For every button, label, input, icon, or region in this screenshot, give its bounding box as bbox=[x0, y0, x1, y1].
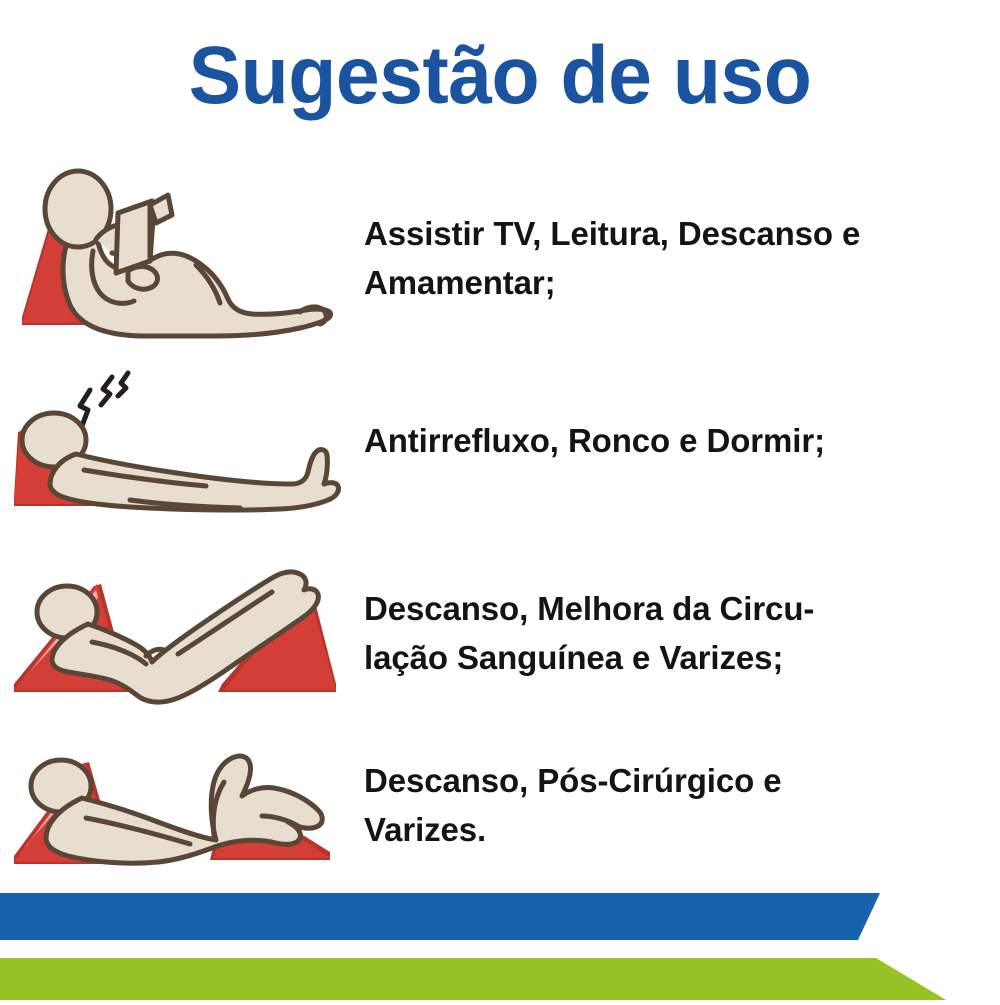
caption-line: Antirrefluxo, Ronco e Dormir; bbox=[364, 416, 990, 465]
caption-line: lação Sanguínea e Varizes; bbox=[364, 633, 990, 682]
green-bar bbox=[0, 958, 946, 1000]
person-figure-icon bbox=[45, 171, 331, 336]
caption-line: Descanso, Melhora da Circu- bbox=[364, 584, 990, 633]
usage-list: Assistir TV, Leitura, Descanso e Amament… bbox=[0, 165, 1000, 880]
illustration-person-lying-flat-snoring-on-wedge bbox=[0, 360, 350, 520]
illustration-person-reclining-reading-on-wedge bbox=[0, 165, 350, 350]
illustration-person-legs-elevated-on-two-wedges bbox=[0, 550, 350, 715]
caption-line: Amamentar; bbox=[364, 258, 990, 307]
list-item-caption: Descanso, Melhora da Circu- lação Sanguí… bbox=[350, 584, 1000, 682]
snore-zzz-icon bbox=[80, 373, 128, 426]
poster-canvas: Sugestão de uso bbox=[0, 0, 1000, 1000]
list-item: Antirrefluxo, Ronco e Dormir; bbox=[0, 360, 1000, 520]
caption-line: Assistir TV, Leitura, Descanso e bbox=[364, 209, 990, 258]
blue-bar bbox=[0, 893, 880, 940]
page-title: Sugestão de uso bbox=[20, 28, 980, 124]
list-item: Assistir TV, Leitura, Descanso e Amament… bbox=[0, 165, 1000, 350]
list-item: Descanso, Pós-Cirúrgico e Varizes. bbox=[0, 730, 1000, 880]
illustration-person-knees-bent-on-two-wedges bbox=[0, 730, 350, 880]
footer-decoration bbox=[0, 885, 1000, 1000]
list-item-caption: Assistir TV, Leitura, Descanso e Amament… bbox=[350, 209, 1000, 307]
caption-line: Varizes. bbox=[364, 805, 990, 854]
list-item-caption: Antirrefluxo, Ronco e Dormir; bbox=[350, 416, 1000, 465]
list-item: Descanso, Melhora da Circu- lação Sanguí… bbox=[0, 550, 1000, 715]
person-figure-icon bbox=[22, 413, 339, 510]
caption-line: Descanso, Pós-Cirúrgico e bbox=[364, 756, 990, 805]
list-item-caption: Descanso, Pós-Cirúrgico e Varizes. bbox=[350, 756, 1000, 854]
